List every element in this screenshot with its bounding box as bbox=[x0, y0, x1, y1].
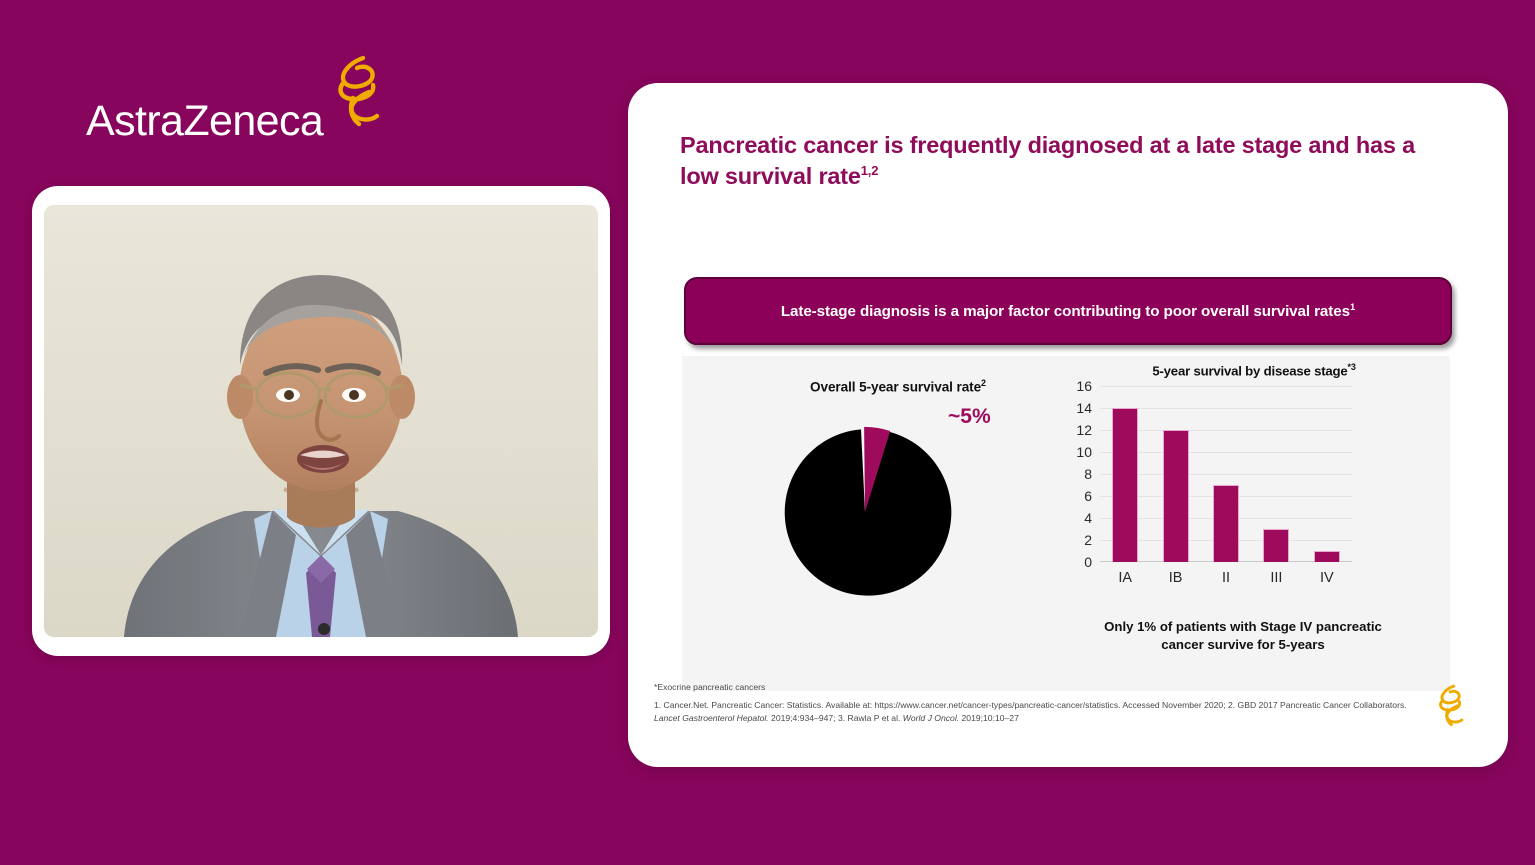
footnote-references: 1. Cancer.Net. Pancreatic Cancer: Statis… bbox=[654, 699, 1424, 725]
pie-chart-block: Overall 5-year survival rate2 ~5% bbox=[738, 378, 1058, 668]
bar-chart-bar bbox=[1112, 408, 1138, 562]
footnote-reference-part: 2. GBD 2017 Pancreatic Cancer Collaborat… bbox=[1228, 700, 1407, 710]
speaker-video-image bbox=[44, 205, 598, 637]
slide-title: Pancreatic cancer is frequently diagnose… bbox=[680, 130, 1420, 192]
footnote-reference-part: 1. Cancer.Net. Pancreatic Cancer: Statis… bbox=[654, 700, 1228, 710]
speaker-video-frame[interactable] bbox=[44, 205, 598, 637]
figure-panel: Overall 5-year survival rate2 ~5% 5-year… bbox=[682, 356, 1450, 691]
presentation-slide-card: Pancreatic cancer is frequently diagnose… bbox=[628, 83, 1508, 767]
bar-chart-y-tick: 2 bbox=[1052, 532, 1092, 548]
bar-chart-bar bbox=[1213, 485, 1239, 562]
bar-chart-block: 5-year survival by disease stage*3 02468… bbox=[1052, 362, 1434, 682]
callout-banner-label: Late-stage diagnosis is a major factor c… bbox=[781, 303, 1350, 320]
astrazeneca-logo: AstraZeneca bbox=[86, 52, 391, 143]
speaker-video-panel[interactable] bbox=[32, 186, 610, 656]
bar-title-superscript: *3 bbox=[1348, 362, 1356, 372]
footnote-reference-part: 2019;10:10–27 bbox=[962, 713, 1019, 723]
callout-banner: Late-stage diagnosis is a major factor c… bbox=[684, 277, 1452, 345]
bar-chart-bar bbox=[1163, 430, 1189, 562]
bar-chart-y-tick: 10 bbox=[1052, 444, 1092, 460]
slide-title-superscript: 1,2 bbox=[861, 163, 878, 178]
bar-chart-y-tick: 16 bbox=[1052, 378, 1092, 394]
footnote-reference-part: 3. Rawla P et al. bbox=[838, 713, 903, 723]
bar-chart-title: 5-year survival by disease stage*3 bbox=[1074, 362, 1434, 378]
slide-stage: AstraZeneca bbox=[0, 0, 1535, 865]
bar-caption-line1: Only 1% of patients with Stage IV pancre… bbox=[1058, 618, 1428, 636]
bar-chart-caption: Only 1% of patients with Stage IV pancre… bbox=[1058, 618, 1428, 654]
bar-chart-y-tick: 4 bbox=[1052, 510, 1092, 526]
pie-chart-title: Overall 5-year survival rate2 bbox=[738, 378, 1058, 395]
astrazeneca-ribbon-logo-small bbox=[1428, 682, 1470, 735]
pie-title-superscript: 2 bbox=[981, 378, 986, 388]
footnote-asterisk: *Exocrine pancreatic cancers bbox=[654, 681, 1424, 694]
bar-chart-title-label: 5-year survival by disease stage bbox=[1152, 363, 1347, 378]
bar-chart-x-tick: III bbox=[1270, 570, 1282, 586]
astrazeneca-ribbon-logo bbox=[319, 52, 391, 137]
footnotes: *Exocrine pancreatic cancers 1. Cancer.N… bbox=[654, 681, 1424, 725]
pie-chart-title-label: Overall 5-year survival rate bbox=[810, 380, 981, 395]
pie-chart-annotation: ~5% bbox=[948, 405, 991, 429]
bar-chart-y-tick: 12 bbox=[1052, 422, 1092, 438]
footnote-reference-part: World J Oncol. bbox=[903, 713, 962, 723]
bar-chart-y-tick: 0 bbox=[1052, 554, 1092, 570]
bar-chart-y-axis: 0246810121416 bbox=[1052, 386, 1096, 562]
astrazeneca-wordmark: AstraZeneca bbox=[86, 100, 323, 143]
bar-chart-x-tick: IV bbox=[1320, 570, 1334, 586]
bar-chart-y-tick: 14 bbox=[1052, 400, 1092, 416]
bar-chart-bar bbox=[1263, 529, 1289, 562]
bar-chart-y-tick: 8 bbox=[1052, 466, 1092, 482]
bar-chart-x-tick: IB bbox=[1169, 570, 1183, 586]
bar-chart-gridline bbox=[1100, 386, 1352, 387]
bar-chart-bar bbox=[1314, 551, 1340, 562]
bar-caption-line2: cancer survive for 5-years bbox=[1058, 636, 1428, 654]
bar-chart-y-tick: 6 bbox=[1052, 488, 1092, 504]
bar-chart-plot-area: IAIBIIIIIIV bbox=[1100, 386, 1400, 562]
pie-chart-graphic bbox=[776, 423, 954, 601]
footnote-reference-part: Lancet Gastroenterol Hepatol. bbox=[654, 713, 771, 723]
footnote-reference-part: 2019;4:934–947; bbox=[771, 713, 838, 723]
callout-banner-text: Late-stage diagnosis is a major factor c… bbox=[781, 302, 1355, 320]
callout-superscript: 1 bbox=[1350, 302, 1355, 313]
slide-title-line1: Pancreatic cancer is frequently diagnose… bbox=[680, 132, 1350, 158]
bar-chart-x-tick: IA bbox=[1118, 570, 1132, 586]
bar-chart-x-tick: II bbox=[1222, 570, 1230, 586]
